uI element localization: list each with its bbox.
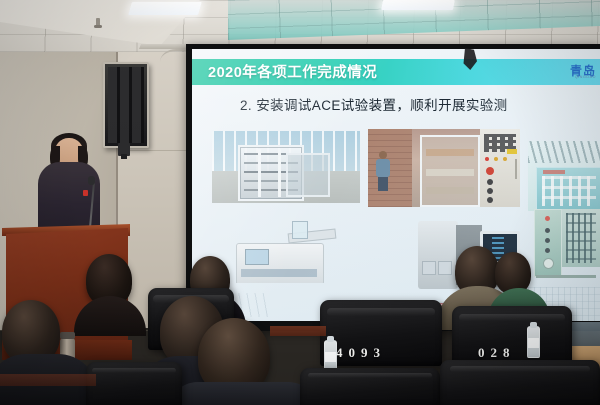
seat-number: 4093	[336, 345, 386, 361]
slide-subtitle: 2. 安装调试ACE试验装置，顺利开展实验测	[240, 94, 508, 114]
slide-photo-industrial-test-rig	[212, 131, 360, 203]
control-cabinet	[480, 129, 520, 207]
technician-figure	[376, 151, 390, 191]
conference-room-photo: 2020年各项工作完成情况 青岛 QINGDAO 2. 安装调试ACE试验装置，…	[0, 0, 600, 405]
brick-wall	[368, 129, 412, 207]
indicator-lamps	[485, 157, 489, 161]
rack-base	[536, 275, 596, 278]
table-edge	[0, 374, 96, 386]
tower-drawer	[422, 261, 436, 275]
bottle-label	[528, 338, 539, 348]
fire-sprinkler-icon	[96, 18, 100, 27]
thermos-cap	[60, 332, 75, 339]
slide-photo-blue-instrument-panel	[528, 141, 600, 211]
instrument-panel	[536, 167, 600, 211]
analyzer-body	[236, 243, 324, 283]
seat-number: 028	[478, 345, 516, 361]
beaker-icon	[292, 221, 308, 239]
audience-chair-foreground	[440, 360, 600, 405]
green-panel	[534, 209, 562, 277]
bottle-cap	[530, 322, 537, 328]
analyzer-display	[245, 249, 269, 265]
analyzer-front-panel	[241, 269, 317, 277]
audience-shoulders-foreground	[168, 382, 318, 405]
terminal-rows	[566, 213, 596, 263]
overhead-pipes	[528, 141, 600, 163]
presenter-badge	[83, 190, 88, 196]
panel-knob	[543, 258, 554, 269]
slide-title: 2020年各项工作完成情况	[208, 61, 377, 82]
control-knobs	[487, 179, 493, 185]
panel-label-strip	[543, 170, 565, 174]
speaker-grille	[108, 67, 144, 143]
bottle-cap	[327, 336, 334, 342]
terminal-block-panel	[562, 209, 600, 267]
analyzer-tower	[418, 221, 458, 289]
speaker-mount-bracket	[118, 143, 130, 156]
equipment-frame-secondary	[286, 153, 330, 197]
bottle-label	[325, 352, 336, 362]
table-edge	[270, 326, 326, 336]
slide-org-logo-sub: QINGDAO	[575, 75, 596, 79]
panel-indicator-array	[542, 176, 596, 206]
panel-leds	[545, 216, 550, 221]
room: 2020年各项工作完成情况 青岛 QINGDAO 2. 安装调试ACE试验装置，…	[0, 0, 600, 405]
emergency-stop-icon	[486, 167, 494, 175]
slide-photo-control-room-cabinet	[368, 129, 520, 207]
slide-photo-lab-analyzer	[230, 221, 348, 283]
figure-legs	[378, 177, 388, 191]
figure-head	[379, 151, 387, 159]
yellow-label	[507, 149, 517, 154]
audience-chair-foreground	[86, 362, 182, 405]
slide-photo-green-rack-panel	[534, 209, 600, 285]
projection-screen: 2020年各项工作完成情况 青岛 QINGDAO 2. 安装调试ACE试验装置，…	[192, 49, 600, 321]
tower-drawer	[438, 261, 452, 275]
pipe-rack	[420, 135, 480, 207]
cabinet-handle	[515, 159, 517, 179]
water-bottle	[527, 326, 540, 358]
figure-body	[376, 159, 390, 177]
microphone-icon	[88, 176, 95, 185]
ceiling-panel-light	[128, 2, 202, 15]
audience-chair-foreground	[300, 368, 440, 405]
ceiling-panel-light	[381, 0, 455, 10]
wall-loudspeaker	[103, 62, 149, 148]
